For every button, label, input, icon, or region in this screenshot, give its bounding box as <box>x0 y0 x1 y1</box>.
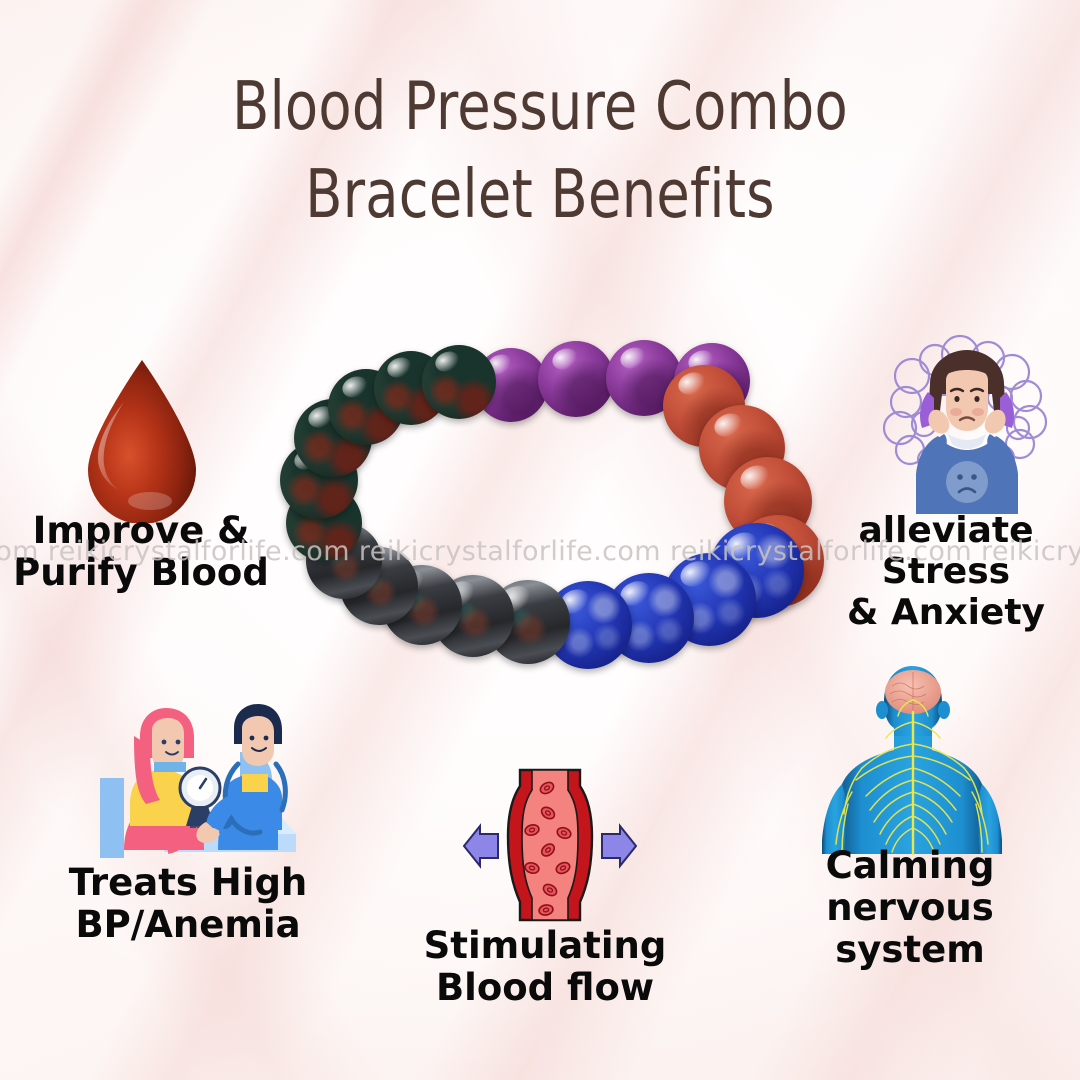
page-title: Blood Pressure Combo Bracelet Benefits <box>54 62 1026 239</box>
benefit-label-treats-high-bp-anemia: Treats High BP/Anemia <box>48 862 328 946</box>
bracelet-bead-amethyst <box>538 341 614 417</box>
nervous-system-icon <box>822 662 1002 857</box>
stressed-woman-icon <box>872 332 1062 517</box>
doctor-blood-pressure-icon <box>72 700 307 870</box>
benefit-label-calming-nervous-system: Calming nervous system <box>800 845 1020 972</box>
benefit-label-improve-purify-blood: Improve & Purify Blood <box>0 510 282 594</box>
page-title-line-2: Bracelet Benefits <box>54 150 1026 238</box>
bracelet-bead-bloodstone <box>422 345 496 419</box>
blood-vessel-icon <box>462 768 637 923</box>
page-title-line-1: Blood Pressure Combo <box>54 62 1026 150</box>
benefit-label-alleviate-stress-anxiety: alleviate Stress & Anxiety <box>812 510 1080 633</box>
benefit-label-stimulating-blood-flow: Stimulating Blood flow <box>405 925 685 1009</box>
bracelet-image <box>290 335 830 675</box>
blood-drop-icon <box>72 358 212 523</box>
